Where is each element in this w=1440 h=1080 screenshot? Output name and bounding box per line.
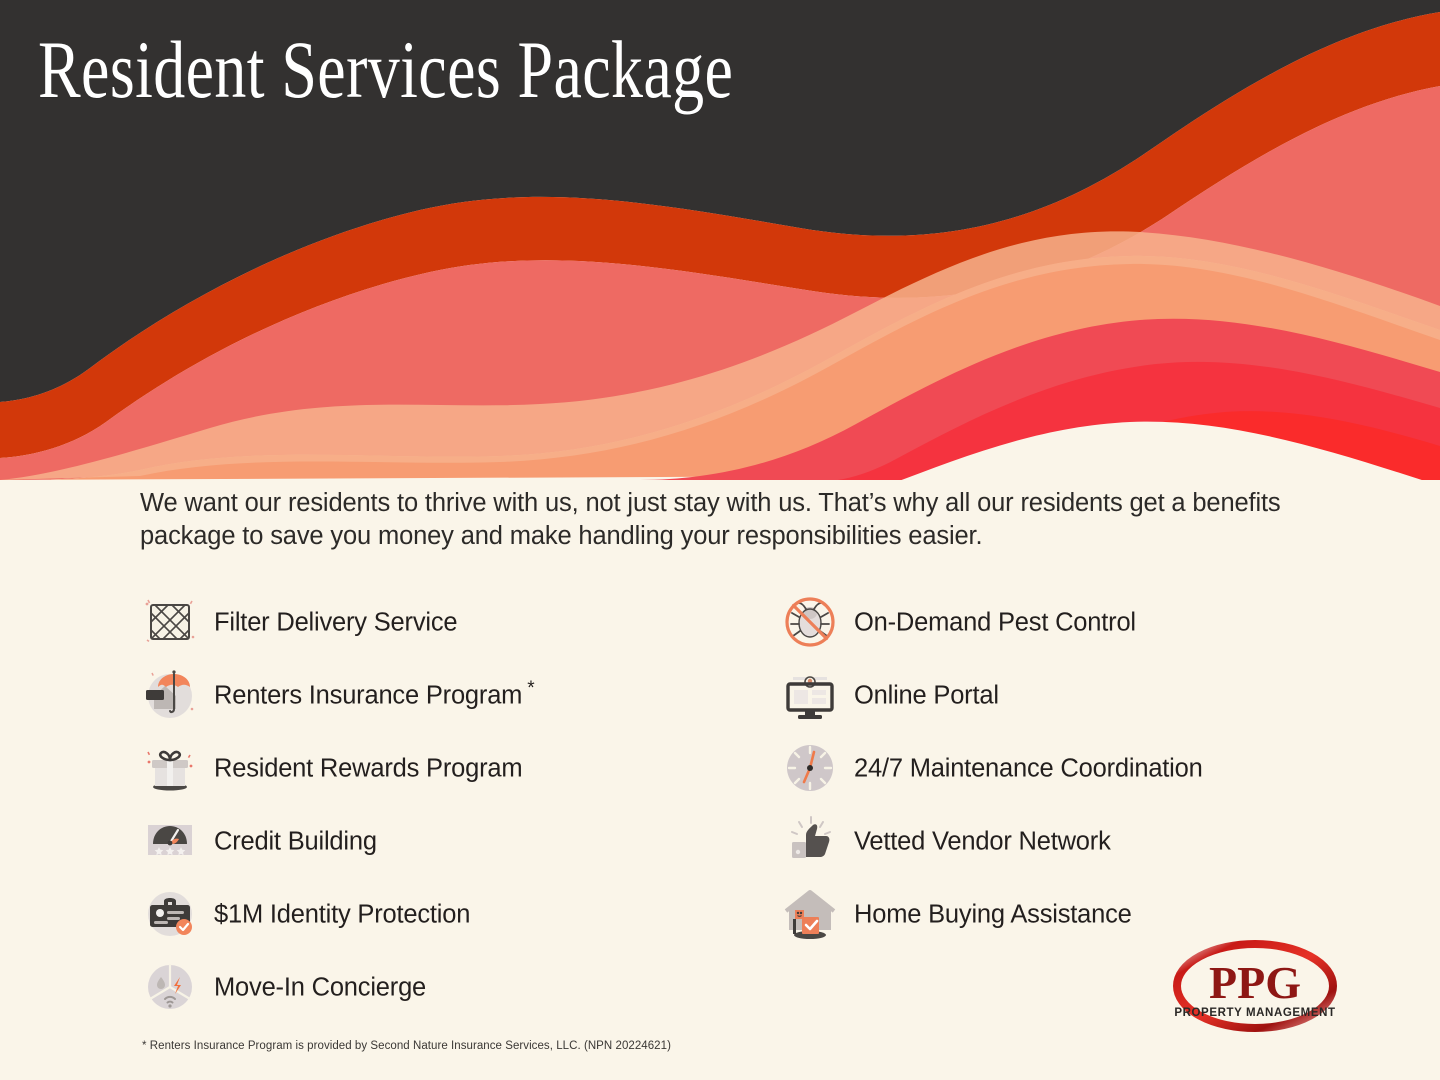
feature-text: Renters Insurance Program: [214, 682, 522, 710]
home-check-icon: [780, 884, 840, 944]
feature-label: Online Portal: [854, 678, 1004, 711]
intro-paragraph: We want our residents to thrive with us,…: [140, 487, 1310, 553]
feature-label: Filter Delivery Service: [214, 605, 462, 638]
feature-text: 24/7 Maintenance Coordination: [854, 755, 1203, 783]
logo-secondary-text: PROPERTY MANAGEMENT: [1174, 1007, 1335, 1019]
gift-box-icon: [140, 738, 200, 798]
air-filter-icon: [140, 592, 200, 652]
feature-item-resident-rewards: Resident Rewards Program: [140, 731, 740, 804]
no-pest-icon: [780, 592, 840, 652]
feature-label: 24/7 Maintenance Coordination: [854, 751, 1208, 784]
feature-label: Home Buying Assistance: [854, 897, 1137, 930]
footnote-text: * Renters Insurance Program is provided …: [142, 1040, 671, 1052]
feature-text: Home Buying Assistance: [854, 901, 1132, 929]
feature-item-online-portal: Online Portal: [780, 658, 1400, 731]
page-title: Resident Services Package: [38, 26, 733, 115]
feature-item-vendor-network: Vetted Vendor Network: [780, 804, 1400, 877]
feature-asterisk: *: [527, 678, 534, 699]
feature-list-right: On-Demand Pest Control Online Portal: [780, 585, 1400, 950]
feature-text: Online Portal: [854, 682, 999, 710]
header-banner: Resident Services Package: [0, 0, 1440, 480]
clock-icon: [780, 738, 840, 798]
feature-text: Credit Building: [214, 828, 377, 856]
id-badge-check-icon: [140, 884, 200, 944]
feature-text: Filter Delivery Service: [214, 609, 457, 637]
credit-gauge-icon: [140, 811, 200, 871]
utilities-wifi-icon: [140, 957, 200, 1017]
feature-item-filter-delivery: Filter Delivery Service: [140, 585, 740, 658]
ppg-logo: PPG PROPERTY MANAGEMENT: [1172, 938, 1338, 1034]
feature-label: Renters Insurance Program*: [214, 678, 534, 711]
feature-item-maintenance: 24/7 Maintenance Coordination: [780, 731, 1400, 804]
feature-item-move-in-concierge: Move-In Concierge: [140, 950, 740, 1023]
feature-text: Move-In Concierge: [214, 974, 426, 1002]
thumbs-up-icon: [780, 811, 840, 871]
feature-label: Resident Rewards Program: [214, 751, 527, 784]
feature-text: On-Demand Pest Control: [854, 609, 1136, 637]
monitor-portal-icon: [780, 665, 840, 725]
feature-text: $1M Identity Protection: [214, 901, 470, 929]
feature-text: Resident Rewards Program: [214, 755, 522, 783]
umbrella-house-icon: [140, 665, 200, 725]
feature-label: Credit Building: [214, 824, 382, 857]
feature-item-credit-building: Credit Building: [140, 804, 740, 877]
feature-label: $1M Identity Protection: [214, 897, 475, 930]
logo-primary-text: PPG: [1209, 957, 1301, 1008]
feature-text: Vetted Vendor Network: [854, 828, 1111, 856]
feature-label: On-Demand Pest Control: [854, 605, 1141, 638]
feature-list-left: Filter Delivery Service Renters Insuranc…: [140, 585, 740, 1023]
feature-item-pest-control: On-Demand Pest Control: [780, 585, 1400, 658]
feature-label: Vetted Vendor Network: [854, 824, 1116, 857]
feature-label: Move-In Concierge: [214, 970, 431, 1003]
feature-item-renters-insurance: Renters Insurance Program*: [140, 658, 740, 731]
feature-item-identity-protection: $1M Identity Protection: [140, 877, 740, 950]
